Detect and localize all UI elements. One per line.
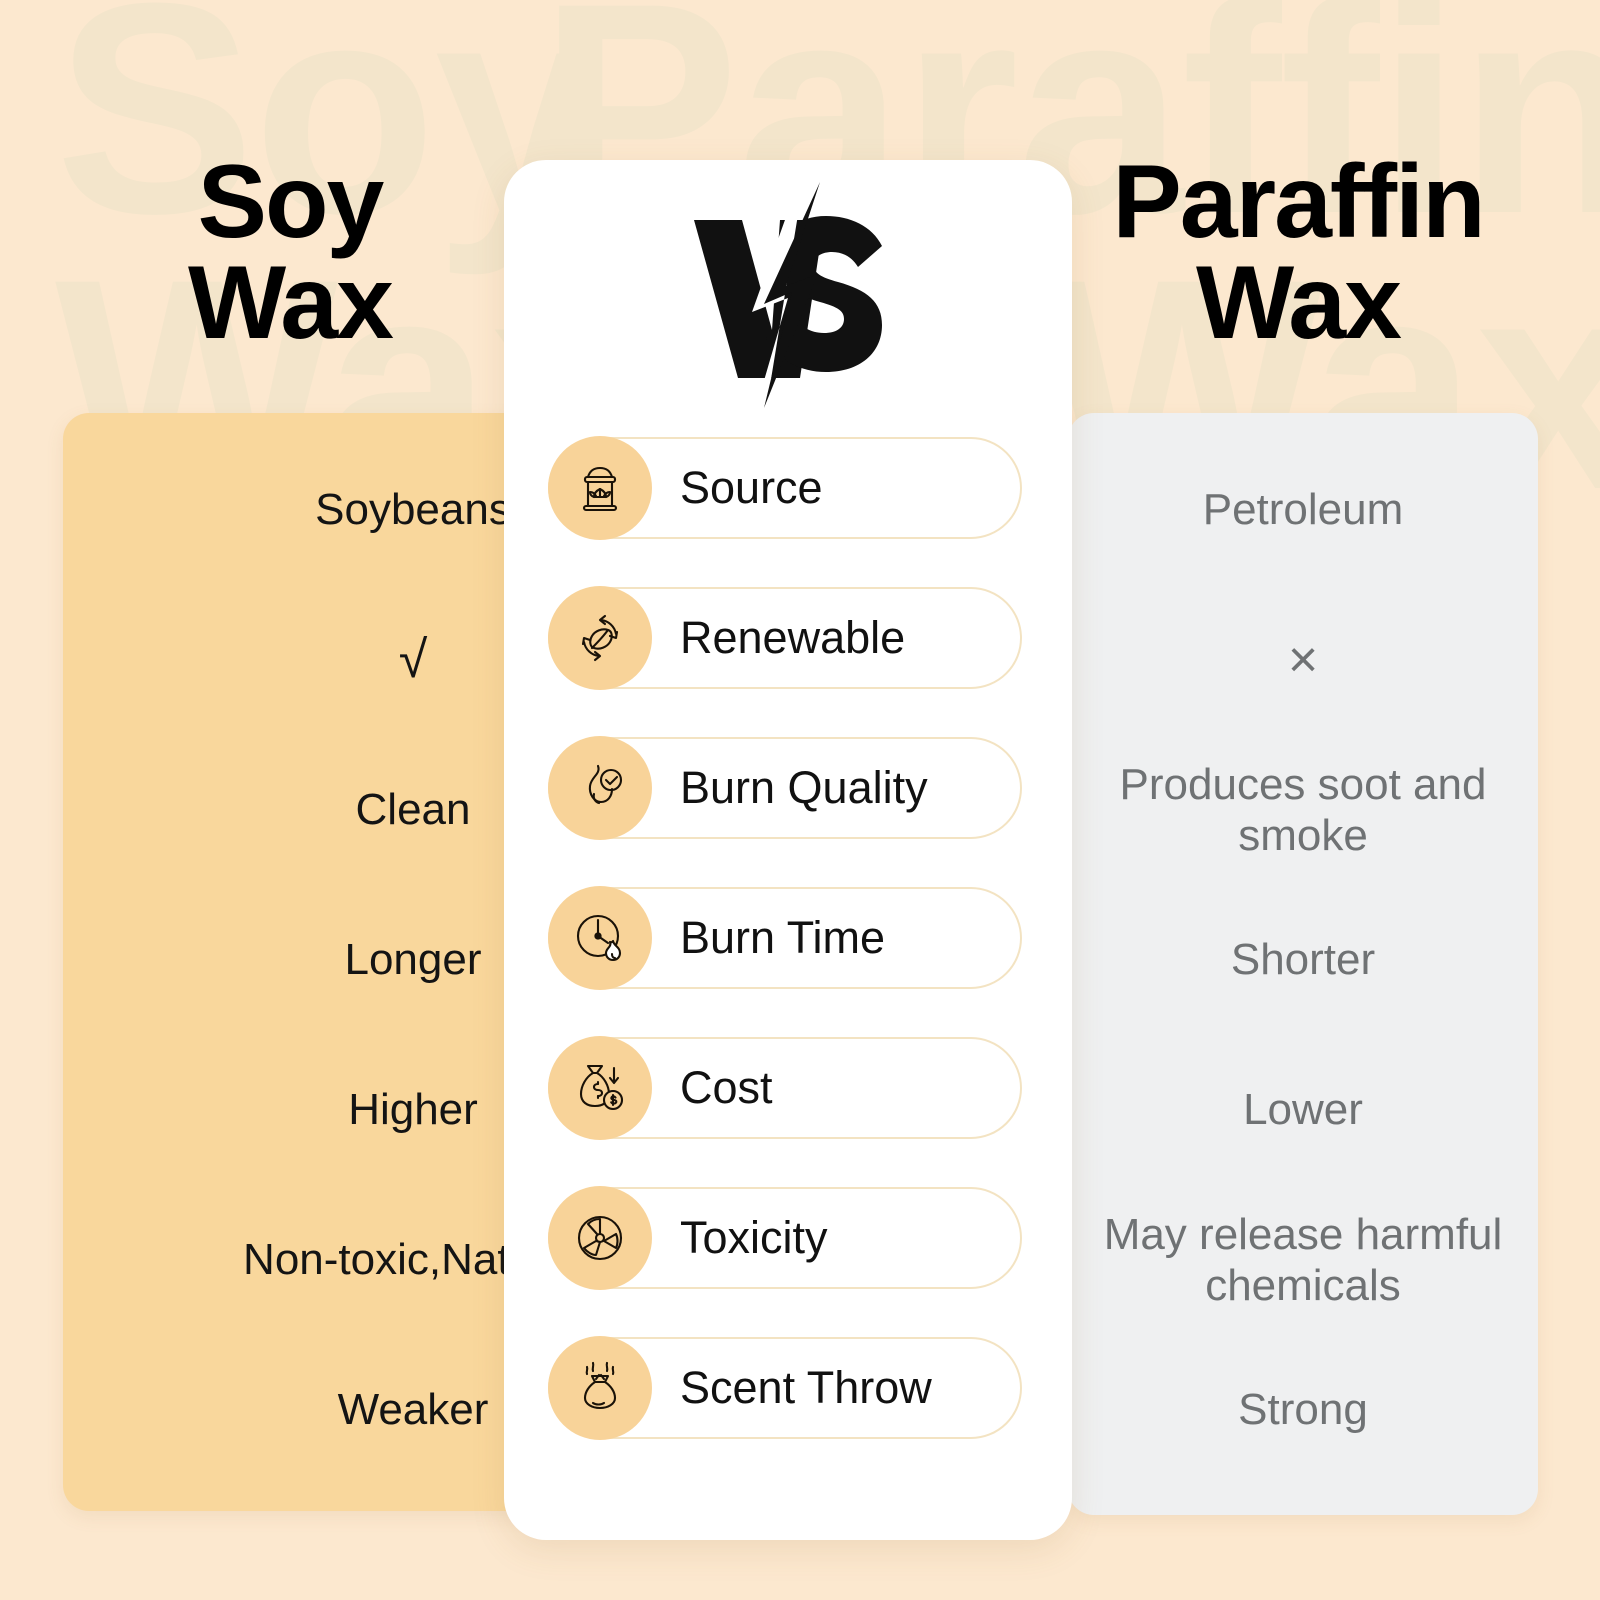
title-line-2: Wax [60,253,520,354]
scented-pouch-icon [548,1336,652,1440]
row-renewable[interactable]: Renewable [504,563,1072,713]
title-line-2: Wax [1018,253,1578,354]
paraffin-value-burn-time: Shorter [1068,885,1538,1035]
vs-lightning-logo-icon [504,182,1072,412]
paraffin-value-burn-quality: Produces soot and smoke [1068,735,1538,885]
row-cost[interactable]: Cost [504,1013,1072,1163]
soy-wax-title: Soy Wax [60,152,520,354]
paraffin-wax-values: Petroleum × Produces soot and smoke Shor… [1068,413,1538,1515]
paraffin-value-source: Petroleum [1068,435,1538,585]
comparison-center-card: Source Renewable [504,160,1072,1540]
row-scent-throw[interactable]: Scent Throw [504,1313,1072,1463]
row-label: Toxicity [680,1212,828,1264]
row-label: Renewable [680,612,905,664]
row-burn-time[interactable]: Burn Time [504,863,1072,1013]
row-label: Burn Quality [680,762,928,814]
clock-flame-icon [548,886,652,990]
paraffin-wax-title: Paraffin Wax [1018,152,1578,354]
row-label: Source [680,462,823,514]
paraffin-value-scent-throw: Strong [1068,1335,1538,1485]
row-source[interactable]: Source [504,413,1072,563]
title-line-1: Paraffin [1018,152,1578,253]
sack-of-grain-icon [548,436,652,540]
paraffin-value-toxicity: May release harmful chemicals [1068,1185,1538,1335]
money-bag-down-arrow-icon [548,1036,652,1140]
paraffin-value-cost: Lower [1068,1035,1538,1185]
recycle-leaf-icon [548,586,652,690]
row-toxicity[interactable]: Toxicity [504,1163,1072,1313]
row-burn-quality[interactable]: Burn Quality [504,713,1072,863]
radiation-hazard-icon [548,1186,652,1290]
comparison-rows: Source Renewable [504,413,1072,1463]
paraffin-value-renewable: × [1068,585,1538,735]
row-label: Cost [680,1062,773,1114]
row-label: Scent Throw [680,1362,932,1414]
title-line-1: Soy [60,152,520,253]
flame-check-icon [548,736,652,840]
row-label: Burn Time [680,912,885,964]
